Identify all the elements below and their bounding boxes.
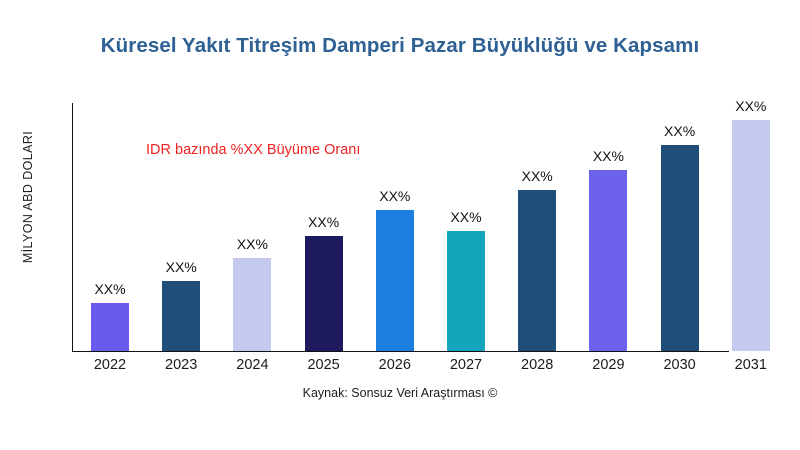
bar-group: XX% (290, 100, 358, 351)
bar-2026[interactable] (376, 210, 414, 351)
source-caption: Kaynak: Sonsuz Veri Araştırması © (0, 386, 800, 400)
x-tick-2031: 2031 (717, 357, 785, 373)
x-tick-2029: 2029 (574, 357, 642, 373)
bar-group: XX% (503, 100, 571, 351)
bar-group: XX% (218, 100, 286, 351)
bar-value-label: XX% (450, 209, 481, 225)
bar-value-label: XX% (735, 98, 766, 114)
bar-2027[interactable] (447, 231, 485, 351)
x-tick-2030: 2030 (646, 357, 714, 373)
bar-2023[interactable] (162, 281, 200, 351)
bar-value-label: XX% (593, 148, 624, 164)
bar-group: XX% (574, 100, 642, 351)
x-tick-2023: 2023 (147, 357, 215, 373)
bar-group: XX% (717, 100, 785, 351)
x-tick-2026: 2026 (361, 357, 429, 373)
chart-container: Küresel Yakıt Titreşim Damperi Pazar Büy… (0, 0, 800, 450)
x-tick-2027: 2027 (432, 357, 500, 373)
bar-group: XX% (361, 100, 429, 351)
x-tick-2024: 2024 (218, 357, 286, 373)
bar-2029[interactable] (589, 170, 627, 351)
bar-value-label: XX% (522, 168, 553, 184)
x-tick-2028: 2028 (503, 357, 571, 373)
bar-value-label: XX% (664, 123, 695, 139)
x-tick-2022: 2022 (76, 357, 144, 373)
bar-group: XX% (76, 100, 144, 351)
bar-value-label: XX% (94, 281, 125, 297)
bar-group: XX% (646, 100, 714, 351)
bar-2022[interactable] (91, 303, 129, 351)
bar-value-label: XX% (379, 188, 410, 204)
bar-group: XX% (432, 100, 500, 351)
bar-value-label: XX% (308, 214, 339, 230)
plot-area: XX%XX%XX%XX%XX%XX%XX%XX%XX%XX% (72, 100, 784, 351)
bar-2031[interactable] (732, 120, 770, 351)
bar-value-label: XX% (237, 236, 268, 252)
bar-2024[interactable] (233, 258, 271, 351)
chart-title: Küresel Yakıt Titreşim Damperi Pazar Büy… (0, 34, 800, 58)
bar-value-label: XX% (166, 259, 197, 275)
bar-2030[interactable] (661, 145, 699, 351)
x-tick-2025: 2025 (290, 357, 358, 373)
bar-2025[interactable] (305, 236, 343, 351)
bar-group: XX% (147, 100, 215, 351)
y-axis-label: MİLYON ABD DOLARI (21, 77, 35, 317)
bar-2028[interactable] (518, 190, 556, 351)
